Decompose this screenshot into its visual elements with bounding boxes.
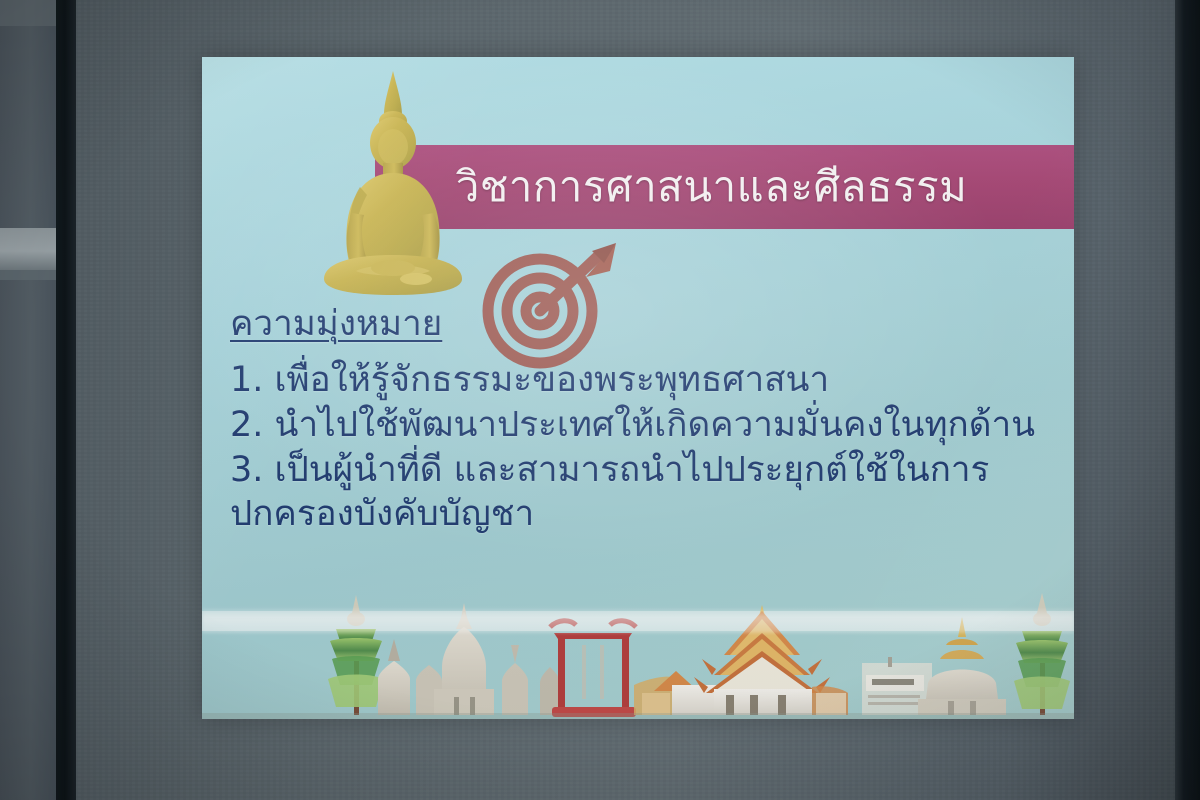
bullet-text-2: นำไปใช้พัฒนาประเทศให้เกิดความมั่นคงในทุก… [275,405,1036,445]
bullet-number-3: 3. [230,450,263,490]
wall-seam-left [56,0,76,800]
body-heading: ความมุ่งหมาย [230,307,442,342]
bullet-item-1: 1. เพื่อให้รู้จักธรรมะของพระพุทธศาสนา [230,358,1060,403]
bullet-item-2: 2. นำไปใช้พัฒนาประเทศให้เกิดความมั่นคงใน… [230,403,1060,448]
buddha-statue-icon [298,65,488,315]
presentation-slide: วิชาการศาสนาและศีลธรรม [202,57,1074,719]
giant-swing [550,621,636,717]
slide-body: ความมุ่งหมาย 1. เพื่อให้รู้จักธรรมะของพร… [230,307,1060,537]
left-wall-panel [0,0,56,800]
left-panel-shadow-band [0,270,56,280]
bullet-text-3: เป็นผู้นำที่ดี และสามารถนำไปประยุกต์ใช้ใ… [230,450,989,535]
left-panel-top-edge [0,0,56,26]
bullet-text-1: เพื่อให้รู้จักธรรมะของพระพุทธศาสนา [275,360,830,400]
bullet-number-2: 2. [230,405,263,445]
skyline-haze [202,607,1074,633]
bullet-number-1: 1. [230,360,263,400]
projected-slide-photo: วิชาการศาสนาและศีลธรรม [0,0,1200,800]
wall-seam-right [1175,0,1200,800]
left-panel-light-band [0,228,56,270]
bullet-item-3: 3. เป็นผู้นำที่ดี และสามารถนำไปประยุกต์ใ… [230,448,1020,538]
bangkok-skyline-graphic [202,589,1074,719]
